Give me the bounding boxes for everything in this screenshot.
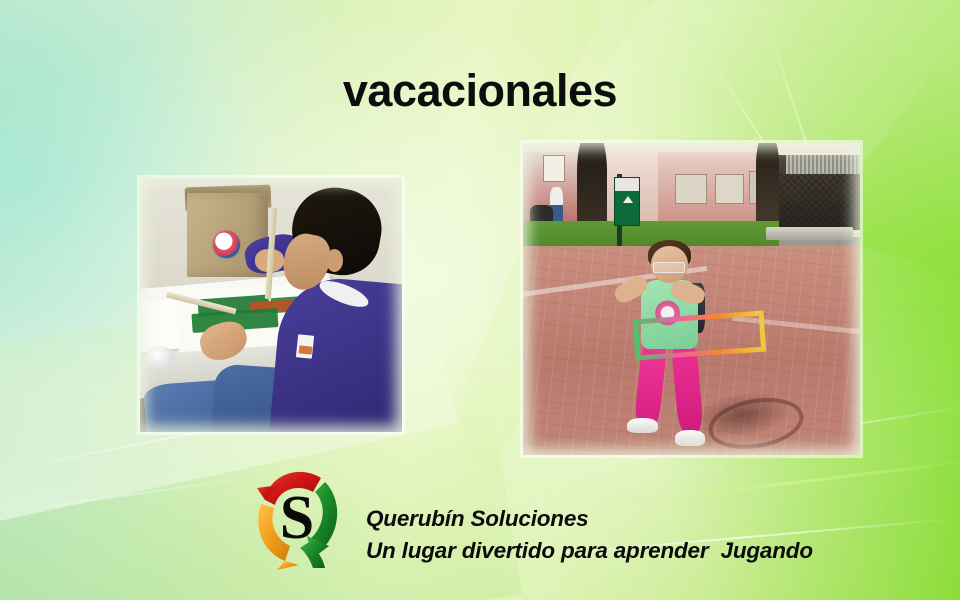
photo-boy-name-badge-stripe xyxy=(298,345,312,354)
photo-girl-tree-left xyxy=(577,143,607,230)
photo-girl-sign-arrow-icon xyxy=(623,196,633,203)
footer-tagline: Querubín Soluciones Un lugar divertido p… xyxy=(366,503,886,567)
photo-girl-shoe-left xyxy=(627,418,657,434)
photo-boy-ear xyxy=(326,249,343,272)
photo-girl-bench xyxy=(766,227,854,239)
querubin-soluciones-logo: S xyxy=(243,458,351,570)
photo-girl-window-3 xyxy=(715,174,744,204)
footer-line-brand: Querubín Soluciones xyxy=(366,503,886,535)
photo-girl-hula-hoop xyxy=(523,143,860,455)
photo-boy-craft-activity xyxy=(140,178,402,432)
photo-boy-content xyxy=(140,178,402,432)
photo-girl-shoe-right xyxy=(675,430,705,446)
page-title: vacacionales xyxy=(0,68,960,113)
photo-girl-window-1 xyxy=(543,155,565,182)
photo-girl-content xyxy=(523,143,860,455)
slide-canvas: vacacionales xyxy=(0,0,960,600)
photo-girl-fence xyxy=(772,174,860,230)
photo-girl-tree-right xyxy=(756,143,780,230)
footer-line-slogan: Un lugar divertido para aprender Jugando xyxy=(366,535,886,567)
photo-girl-awning xyxy=(786,155,860,174)
photo-girl-window-2 xyxy=(675,174,707,204)
logo-letter-s: S xyxy=(280,484,314,552)
photo-boy-box-sticker xyxy=(213,231,239,258)
photo-girl-glasses xyxy=(653,262,685,273)
